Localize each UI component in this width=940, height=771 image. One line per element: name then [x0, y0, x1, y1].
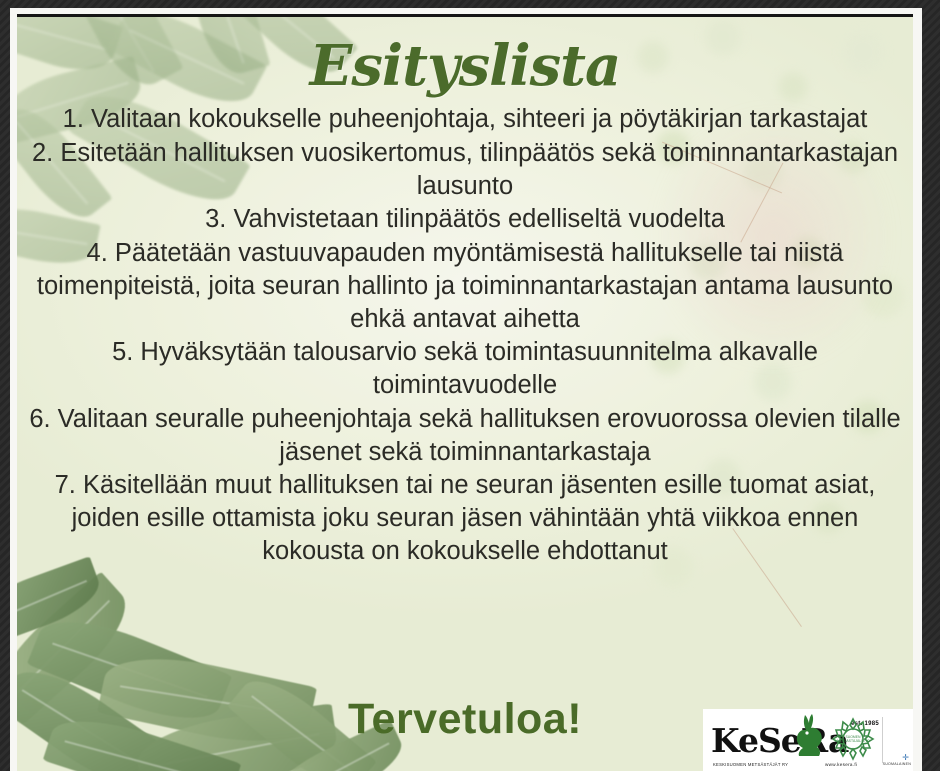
logo-subtitle-left: KESKISUOMEN METSÄSTÄJÄT RY: [713, 762, 788, 767]
photo-frame: Esityslista 1. Valitaan kokoukselle puhe…: [0, 0, 940, 771]
poster-content: Esityslista 1. Valitaan kokoukselle puhe…: [17, 17, 913, 771]
kesera-logo: KeSeRa est. 1985 KESKISUOMEN METSÄSTÄJÄT…: [703, 709, 913, 771]
page-title: Esityslista: [17, 33, 913, 99]
agenda-item-7: 7. Käsitellään muut hallituksen tai ne s…: [25, 469, 905, 567]
flag-icon: ✛: [902, 753, 909, 762]
emblem-label: SUOMEN METSÄSTÄJÄLIITTO: [837, 735, 869, 744]
hare-icon: [793, 713, 827, 757]
agenda-list: 1. Valitaan kokoukselle puheenjohtaja, s…: [25, 103, 905, 569]
agenda-item-5: 5. Hyväksytään talousarvio sekä toiminta…: [25, 336, 905, 402]
partner-label: SUOMALAINEN: [883, 762, 911, 766]
agenda-poster: Esityslista 1. Valitaan kokoukselle puhe…: [17, 14, 913, 771]
agenda-item-6: 6. Valitaan seuralle puheenjohtaja sekä …: [25, 403, 905, 469]
agenda-item-3: 3. Vahvistetaan tilinpäätös edelliseltä …: [25, 203, 905, 236]
logo-divider: [882, 717, 883, 763]
agenda-item-2: 2. Esitetään hallituksen vuosikertomus, …: [25, 137, 905, 203]
agenda-item-1: 1. Valitaan kokoukselle puheenjohtaja, s…: [25, 103, 905, 136]
agenda-item-4: 4. Päätetään vastuuvapauden myöntämisest…: [25, 237, 905, 335]
